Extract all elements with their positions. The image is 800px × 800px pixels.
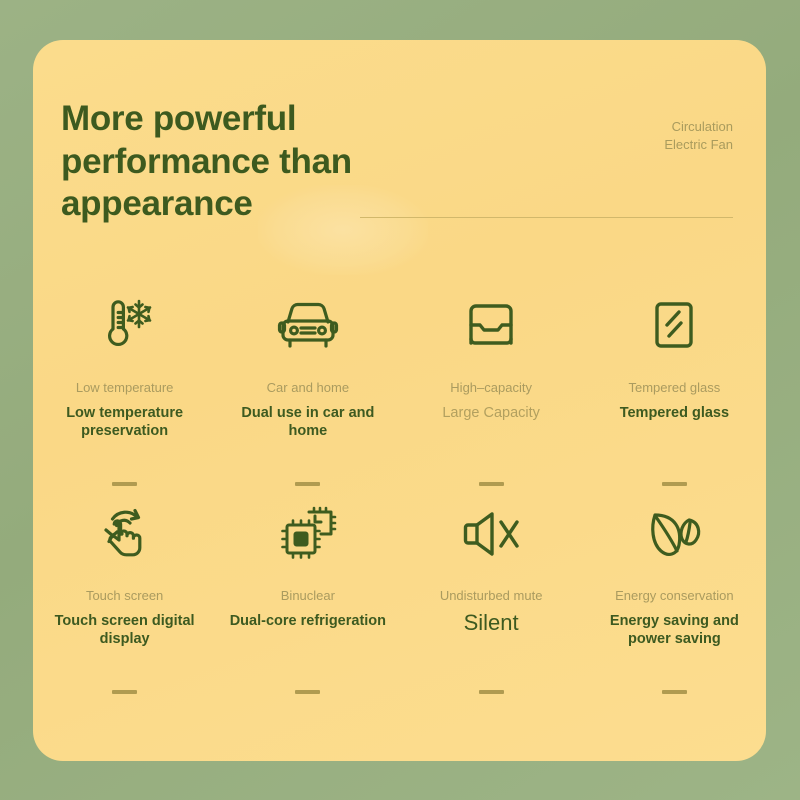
feature-sub-label: Touch screen xyxy=(86,588,163,605)
feature-main-label: Low temperature preservation xyxy=(39,405,210,440)
feature-item: Tempered glass Tempered glass xyxy=(583,290,766,498)
storage-tray-icon xyxy=(462,290,520,362)
tempered-glass-icon xyxy=(648,290,700,362)
feature-dash xyxy=(662,690,687,694)
feature-item: Low temperature Low temperature preserva… xyxy=(33,290,216,498)
feature-item: High–capacity Large Capacity xyxy=(400,290,583,498)
header-divider xyxy=(360,217,733,218)
touch-gesture-icon xyxy=(94,498,156,570)
feature-dash xyxy=(479,482,504,486)
feature-dash xyxy=(295,482,320,486)
feature-main-label: Energy saving and power saving xyxy=(589,613,760,648)
feature-sub-label: Tempered glass xyxy=(628,380,720,397)
feature-dash xyxy=(479,690,504,694)
feature-dash xyxy=(112,690,137,694)
page-title: More powerful performance than appearanc… xyxy=(61,98,401,226)
feature-main-label: Tempered glass xyxy=(620,405,729,423)
feature-item: Binuclear Dual-core refrigeration xyxy=(216,498,399,706)
brand-line-2: Electric Fan xyxy=(513,136,733,154)
feature-dash xyxy=(112,482,137,486)
thermometer-snowflake-icon xyxy=(94,290,156,362)
feature-sub-label: Energy conservation xyxy=(615,588,734,605)
feature-sub-label: Car and home xyxy=(267,380,349,397)
feature-sub-label: Binuclear xyxy=(281,588,335,605)
feature-grid: Low temperature Low temperature preserva… xyxy=(33,290,766,706)
feature-sub-label: Low temperature xyxy=(76,380,174,397)
car-front-icon xyxy=(275,290,341,362)
brand-label: Circulation Electric Fan xyxy=(513,118,733,153)
brand-line-1: Circulation xyxy=(513,118,733,136)
feature-main-label: Dual-core refrigeration xyxy=(230,613,386,631)
feature-main-label: Large Capacity xyxy=(442,405,540,423)
feature-main-label: Silent xyxy=(464,610,519,637)
feature-sub-label: High–capacity xyxy=(450,380,532,397)
feature-item: Car and home Dual use in car and home xyxy=(216,290,399,498)
feature-main-label: Touch screen digital display xyxy=(39,613,210,648)
feature-dash xyxy=(662,482,687,486)
feature-item: Undisturbed mute Silent xyxy=(400,498,583,706)
feature-sub-label: Undisturbed mute xyxy=(440,588,543,605)
feature-dash xyxy=(295,690,320,694)
feature-item: Touch screen Touch screen digital displa… xyxy=(33,498,216,706)
feature-main-label: Dual use in car and home xyxy=(222,405,393,440)
dual-chip-icon xyxy=(276,498,340,570)
leaves-eco-icon xyxy=(641,498,707,570)
speaker-mute-icon xyxy=(459,498,523,570)
feature-item: Energy conservation Energy saving and po… xyxy=(583,498,766,706)
feature-card: More powerful performance than appearanc… xyxy=(33,40,766,761)
